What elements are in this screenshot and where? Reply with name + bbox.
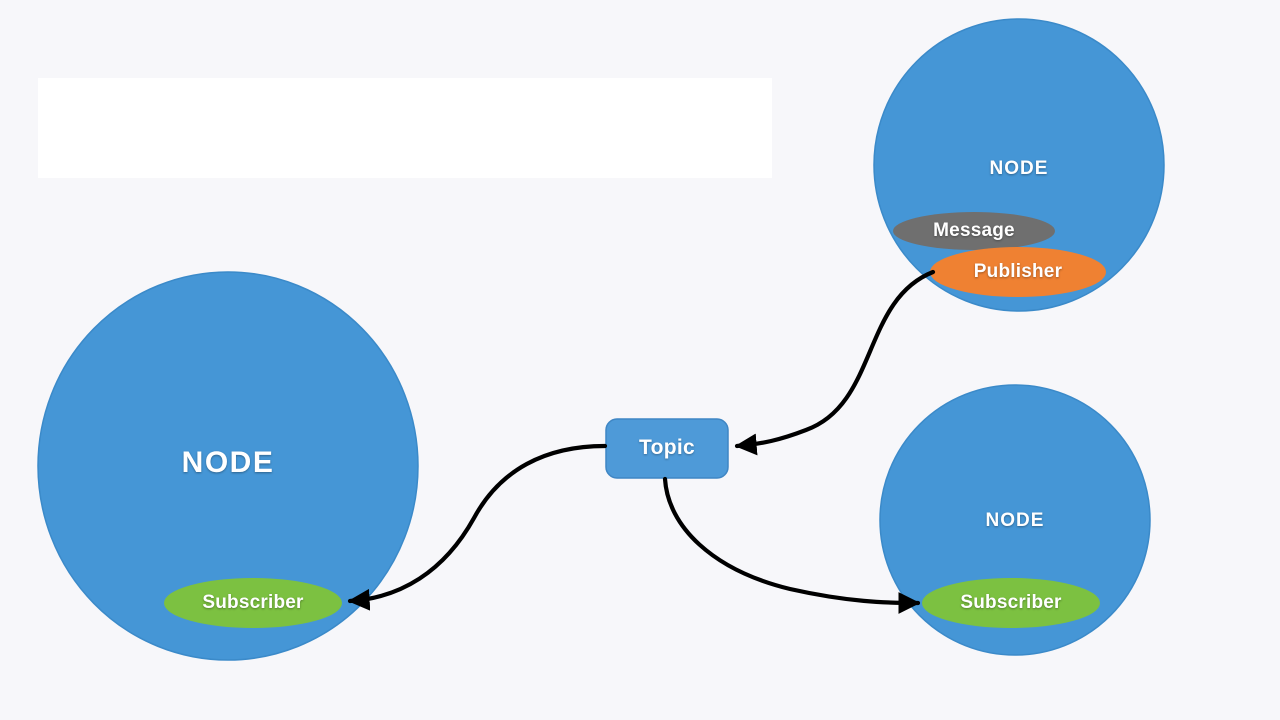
subscriber-ellipse-left[interactable] — [164, 578, 342, 628]
topic-box[interactable] — [606, 419, 728, 478]
message-ellipse[interactable] — [893, 212, 1055, 250]
publisher-ellipse[interactable] — [930, 247, 1106, 297]
blank-white-panel — [38, 78, 772, 178]
subscriber-ellipse-bottom-right[interactable] — [922, 578, 1100, 628]
diagram-canvas: NODE NODE NODE Message Publisher Subscri… — [0, 0, 1280, 720]
arrow-publisher-to-topic — [737, 272, 933, 446]
diagram-svg — [0, 0, 1280, 720]
arrow-topic-to-subscriber-bottom-right — [665, 479, 918, 603]
